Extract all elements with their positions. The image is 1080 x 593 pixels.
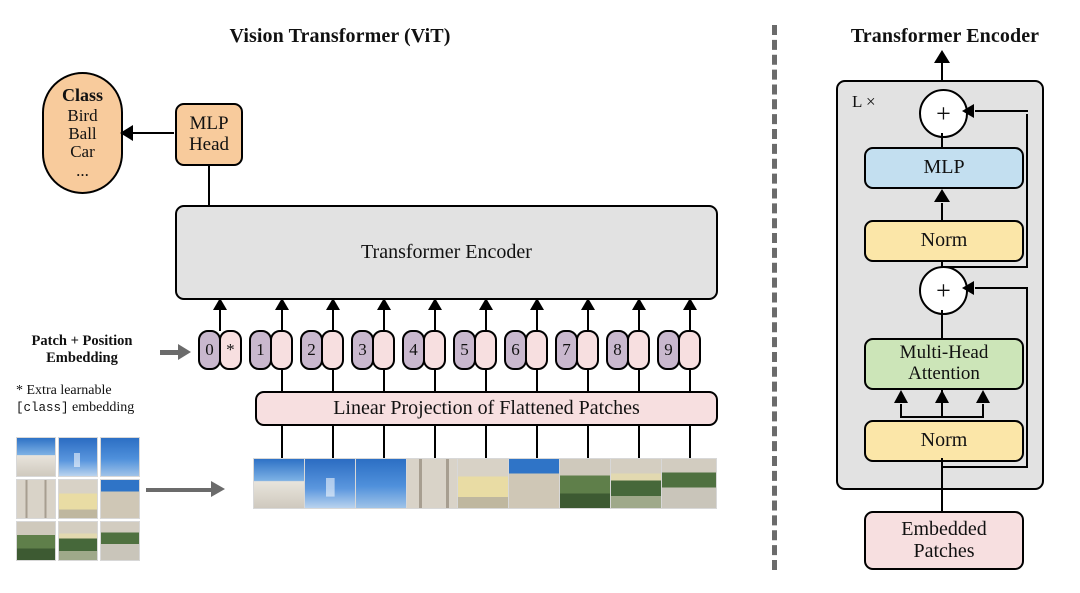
footnote-line1: * Extra learnable xyxy=(16,382,186,399)
residual-wire-top-arrowhead xyxy=(962,104,974,118)
token-6-position xyxy=(525,330,548,370)
left-panel-title: Vision Transformer (ViT) xyxy=(150,25,530,48)
token-0-position: * xyxy=(219,330,242,370)
line-linproj-to-token-7 xyxy=(587,369,589,391)
line-linproj-to-token-1 xyxy=(281,369,283,391)
qkv-center-arrowhead xyxy=(935,390,949,403)
mlp-head-line1: MLP xyxy=(189,114,229,135)
arrow-token-4-head xyxy=(428,298,442,310)
mlp-head-line2: Head xyxy=(189,135,229,156)
arrow-token-9-head xyxy=(683,298,697,310)
arrow-mlphead-to-class-head xyxy=(120,125,133,141)
arrow-token-0-head xyxy=(213,298,227,310)
norm-bottom-block: Norm xyxy=(864,420,1024,462)
arrow-embedding-label-shaft xyxy=(160,350,180,355)
footnote-class-token: [class] xyxy=(16,401,69,415)
residual-add-top-glyph: + xyxy=(936,101,951,127)
residual-add-bottom-glyph: + xyxy=(936,278,951,304)
line-patch-7-to-linproj xyxy=(587,426,589,458)
flat-patch-6 xyxy=(559,458,615,509)
patch-position-embedding-line2: Embedding xyxy=(8,350,156,367)
token-7: 7 xyxy=(555,330,599,370)
line-patch-8-to-linproj xyxy=(638,426,640,458)
token-6: 6 xyxy=(504,330,548,370)
token-1-position xyxy=(270,330,293,370)
line-patch-5-to-linproj xyxy=(485,426,487,458)
class-pill-heading: Class xyxy=(62,86,103,105)
token-9-index: 9 xyxy=(657,330,680,370)
source-patch-7 xyxy=(58,521,98,561)
token-2: 2 xyxy=(300,330,344,370)
flat-patch-0 xyxy=(253,458,309,509)
token-4: 4 xyxy=(402,330,446,370)
class-output-pill: Class Bird Ball Car ... xyxy=(42,72,123,194)
line-patch-3-to-linproj xyxy=(383,426,385,458)
class-pill-item-3: ... xyxy=(76,162,89,180)
multi-head-attention-block: Multi-Head Attention xyxy=(864,338,1024,390)
panel-divider xyxy=(772,25,777,570)
token-0: 0 * xyxy=(198,330,242,370)
source-patch-0 xyxy=(16,437,56,477)
line-patch-9-to-linproj xyxy=(689,426,691,458)
arrow-token-3-head xyxy=(377,298,391,310)
mlp-block-label: MLP xyxy=(923,157,964,179)
line-patch-4-to-linproj xyxy=(434,426,436,458)
extra-learnable-footnote: * Extra learnable [class] embedding xyxy=(16,382,186,416)
arrow-token-8-head xyxy=(632,298,646,310)
residual-wire-bottom-into-add xyxy=(975,287,1028,289)
line-patch-6-to-linproj xyxy=(536,426,538,458)
token-8: 8 xyxy=(606,330,650,370)
line-patch-1-to-linproj xyxy=(281,426,283,458)
token-3: 3 xyxy=(351,330,395,370)
source-patch-6 xyxy=(16,521,56,561)
token-0-index: 0 xyxy=(198,330,221,370)
attention-label-line1: Multi-Head xyxy=(900,343,989,364)
class-pill-item-0: Bird xyxy=(67,107,97,125)
arrow-mlphead-to-class-shaft xyxy=(129,132,174,134)
line-linproj-to-token-2 xyxy=(332,369,334,391)
line-linproj-to-token-6 xyxy=(536,369,538,391)
residual-wire-bottom-bottom xyxy=(941,466,1028,468)
line-linproj-to-token-5 xyxy=(485,369,487,391)
transformer-encoder-block: Transformer Encoder xyxy=(175,205,718,300)
source-patch-4 xyxy=(58,479,98,519)
token-8-position xyxy=(627,330,650,370)
token-5-position xyxy=(474,330,497,370)
line-linproj-to-token-4 xyxy=(434,369,436,391)
token-5-index: 5 xyxy=(453,330,476,370)
flat-patch-3 xyxy=(406,458,462,509)
layer-repeat-label: L × xyxy=(852,92,876,112)
flat-patch-1 xyxy=(304,458,360,509)
norm-bottom-label: Norm xyxy=(921,430,968,452)
arrow-normtop-to-mlp-head xyxy=(934,189,950,202)
token-2-position xyxy=(321,330,344,370)
residual-wire-top-into-add xyxy=(975,110,1028,112)
line-add-top-to-mlp xyxy=(941,133,943,148)
arrow-embedding-label-head xyxy=(178,344,191,360)
norm-top-block: Norm xyxy=(864,220,1024,262)
token-1: 1 xyxy=(249,330,293,370)
line-linproj-to-token-3 xyxy=(383,369,385,391)
token-9: 9 xyxy=(657,330,701,370)
flat-patch-8 xyxy=(661,458,717,509)
source-patch-8 xyxy=(100,521,140,561)
line-linproj-to-token-9 xyxy=(689,369,691,391)
flat-patch-5 xyxy=(508,458,564,509)
qkv-left-shaft xyxy=(900,404,902,418)
line-patch-2-to-linproj xyxy=(332,426,334,458)
mlp-head-box: MLP Head xyxy=(175,103,243,166)
qkv-left-arrowhead xyxy=(894,390,908,403)
token-5: 5 xyxy=(453,330,497,370)
transformer-encoder-label: Transformer Encoder xyxy=(361,242,532,264)
class-pill-item-2: Car xyxy=(70,143,95,161)
source-patch-2 xyxy=(100,437,140,477)
attention-label-line2: Attention xyxy=(900,364,989,385)
residual-add-top: + xyxy=(919,89,968,138)
qkv-right-shaft xyxy=(982,404,984,418)
arrow-token-7-head xyxy=(581,298,595,310)
source-patch-3 xyxy=(16,479,56,519)
footnote-line2-rest: embedding xyxy=(69,400,135,415)
encoder-output-arrow-head xyxy=(934,50,950,63)
mlp-block: MLP xyxy=(864,147,1024,189)
token-1-index: 1 xyxy=(249,330,272,370)
norm-top-label: Norm xyxy=(921,230,968,252)
source-patch-1 xyxy=(58,437,98,477)
qkv-right-arrowhead xyxy=(976,390,990,403)
arrow-grid-to-sequence-shaft xyxy=(146,488,214,492)
flat-patch-7 xyxy=(610,458,666,509)
residual-add-bottom: + xyxy=(919,266,968,315)
token-3-index: 3 xyxy=(351,330,374,370)
arrow-normtop-to-mlp-shaft xyxy=(941,203,943,221)
arrow-token-5-head xyxy=(479,298,493,310)
token-3-position xyxy=(372,330,395,370)
class-pill-item-1: Ball xyxy=(68,125,96,143)
arrow-token-1-head xyxy=(275,298,289,310)
token-7-index: 7 xyxy=(555,330,578,370)
line-mlphead-to-encoder xyxy=(208,165,210,207)
token-6-index: 6 xyxy=(504,330,527,370)
line-add-bottom-to-attention xyxy=(941,310,943,339)
token-9-position xyxy=(678,330,701,370)
flat-patch-2 xyxy=(355,458,411,509)
token-4-index: 4 xyxy=(402,330,425,370)
flat-patch-4 xyxy=(457,458,513,509)
patch-position-embedding-line1: Patch + Position xyxy=(8,333,156,350)
residual-wire-bottom-vertical xyxy=(1026,288,1028,468)
source-image-grid xyxy=(16,437,142,563)
line-embedded-patches-to-normbottom xyxy=(941,458,943,513)
token-2-index: 2 xyxy=(300,330,323,370)
arrow-token-2-head xyxy=(326,298,340,310)
arrow-grid-to-sequence-head xyxy=(211,481,225,497)
token-7-position xyxy=(576,330,599,370)
patch-position-embedding-label: Patch + Position Embedding xyxy=(8,333,156,367)
token-8-index: 8 xyxy=(606,330,629,370)
embedded-patches-line2: Patches xyxy=(901,541,987,563)
footnote-line2: [class] embedding xyxy=(16,399,186,416)
residual-wire-top-vertical xyxy=(1026,114,1028,268)
arrow-token-6-head xyxy=(530,298,544,310)
linear-projection-label: Linear Projection of Flattened Patches xyxy=(333,398,640,420)
token-4-position xyxy=(423,330,446,370)
linear-projection-box: Linear Projection of Flattened Patches xyxy=(255,391,718,426)
embedded-patches-block: Embedded Patches xyxy=(864,511,1024,570)
line-linproj-to-token-8 xyxy=(638,369,640,391)
right-panel-title: Transformer Encoder xyxy=(810,25,1080,48)
source-patch-5 xyxy=(100,479,140,519)
embedded-patches-line1: Embedded xyxy=(901,519,987,541)
residual-wire-bottom-arrowhead xyxy=(962,281,974,295)
